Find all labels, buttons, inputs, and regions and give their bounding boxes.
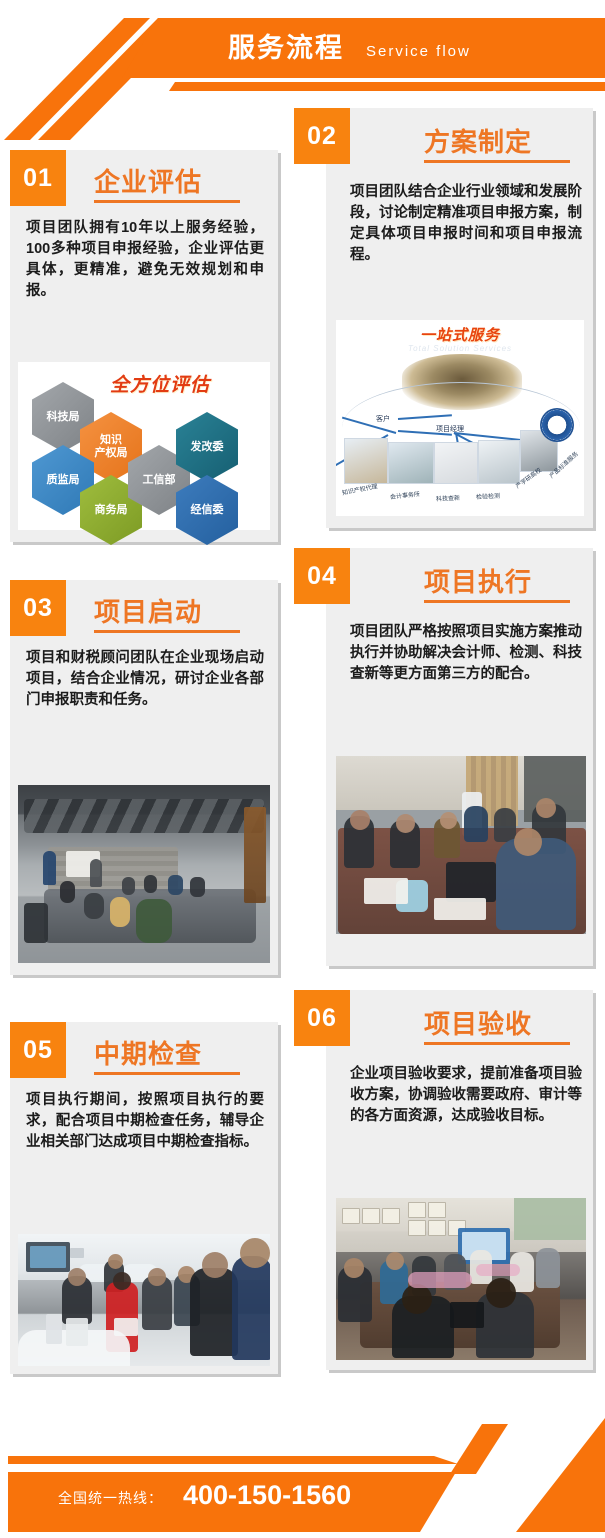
step-title-04: 项目执行 bbox=[424, 562, 532, 599]
page-title: 服务流程 bbox=[228, 28, 344, 68]
step-title-rule-04 bbox=[424, 600, 570, 603]
hotline-number[interactable]: 400-150-1560 bbox=[183, 1480, 351, 1511]
service-flow-infographic: 服务流程 Service flow 01 企业评估 项目团队拥有10年以上服务经… bbox=[0, 0, 605, 1538]
step-number-01: 01 bbox=[10, 150, 66, 206]
step-title-rule-06 bbox=[424, 1042, 570, 1045]
step-title-02: 方案制定 bbox=[424, 122, 532, 159]
page-footer: 全国统一热线： 400-150-1560 bbox=[0, 1418, 605, 1538]
step-number-05: 05 bbox=[10, 1022, 66, 1078]
step-title-01: 企业评估 bbox=[94, 162, 202, 199]
step-body-05: 项目执行期间，按照项目执行的要求，配合项目中期检查任务，辅导企业相关部门达成项目… bbox=[26, 1090, 264, 1153]
one-stop-service-thumb bbox=[434, 442, 478, 484]
one-stop-title: 一站式服务 bbox=[336, 324, 584, 345]
step-number-04: 04 bbox=[294, 548, 350, 604]
step-body-04: 项目团队严格按照项目实施方案推动执行并协助解决会计师、检测、科技查新等更方面第三… bbox=[350, 622, 582, 685]
step-title-rule-01 bbox=[94, 200, 240, 203]
hex-diagram-title: 全方位评估 bbox=[110, 370, 210, 397]
hex-node-label: 质监局 bbox=[47, 474, 80, 487]
one-stop-service-label: 检验检测 bbox=[476, 491, 500, 501]
step-title-rule-03 bbox=[94, 630, 240, 633]
photo-boardroom bbox=[336, 1198, 586, 1360]
step-body-01: 项目团队拥有10年以上服务经验，100多种项目申报经验，企业评估更具体，更精准，… bbox=[26, 218, 264, 302]
hex-node-label: 商务局 bbox=[95, 504, 128, 517]
one-stop-service-thumb bbox=[388, 442, 434, 484]
one-stop-service-label: 科技查新 bbox=[436, 493, 460, 503]
step-card-05: 05 中期检查 项目执行期间，按照项目执行的要求，配合项目中期检查任务，辅导企业… bbox=[10, 1022, 278, 1374]
hex-node-label: 知识 产权局 bbox=[95, 434, 128, 460]
hex-node-label: 工信部 bbox=[143, 474, 176, 487]
step-title-06: 项目验收 bbox=[424, 1004, 532, 1041]
step-card-06: 06 项目验收 企业项目验收要求，提前准备项目验收方案，协调验收需要政府、审计等… bbox=[326, 990, 593, 1370]
step-card-02: 02 方案制定 项目团队结合企业行业领域和发展阶段，讨论制定精准项目申报方案，制… bbox=[326, 108, 593, 528]
step-number-06: 06 bbox=[294, 990, 350, 1046]
footer-stripe bbox=[8, 1456, 605, 1464]
one-stop-service-diagram: 一站式服务 Total Solution Services 客户 项目经理 知识… bbox=[336, 320, 584, 516]
photo-office-meeting bbox=[336, 756, 586, 934]
page-subtitle: Service flow bbox=[366, 38, 471, 66]
step-body-03: 项目和财税顾问团队在企业现场启动项目，结合企业情况，研讨企业各部门申报职责和任务… bbox=[26, 648, 264, 711]
hotline-label: 全国统一热线： bbox=[58, 1488, 163, 1508]
step-title-03: 项目启动 bbox=[94, 592, 202, 629]
step-body-06: 企业项目验收要求，提前准备项目验收方案，协调验收需要政府、审计等的各方面资源，达… bbox=[350, 1064, 582, 1127]
step-title-05: 中期检查 bbox=[94, 1034, 202, 1071]
photo-content bbox=[18, 1234, 270, 1366]
hex-diagram: 全方位评估 科技局 知识 产权局 质监局 商务局 工信部 发改委 经信委 bbox=[18, 362, 270, 530]
photo-conference-room bbox=[18, 785, 270, 963]
one-stop-subtitle: Total Solution Services bbox=[336, 344, 584, 353]
step-title-rule-05 bbox=[94, 1072, 240, 1075]
one-stop-service-thumb bbox=[478, 440, 520, 484]
photo-content bbox=[336, 1198, 586, 1360]
step-number-03: 03 bbox=[10, 580, 66, 636]
step-card-04: 04 项目执行 项目团队严格按照项目实施方案推动执行并协助解决会计师、检测、科技… bbox=[326, 548, 593, 966]
hex-node-label: 发改委 bbox=[191, 441, 224, 454]
hex-node-label: 科技局 bbox=[47, 411, 80, 424]
one-stop-iso-seal bbox=[540, 408, 574, 442]
hex-node-label: 经信委 bbox=[191, 504, 224, 517]
photo-showroom-visit bbox=[18, 1234, 270, 1366]
photo-content bbox=[336, 756, 586, 934]
step-card-03: 03 项目启动 项目和财税顾问团队在企业现场启动项目，结合企业情况，研讨企业各部… bbox=[10, 580, 278, 975]
step-number-02: 02 bbox=[294, 108, 350, 164]
photo-content bbox=[18, 785, 270, 963]
one-stop-service-label: 会计事务所 bbox=[390, 489, 421, 501]
one-stop-client-label: 客户 bbox=[376, 414, 390, 424]
one-stop-service-thumb bbox=[344, 438, 388, 484]
step-card-01: 01 企业评估 项目团队拥有10年以上服务经验，100多种项目申报经验，企业评估… bbox=[10, 150, 278, 542]
step-body-02: 项目团队结合企业行业领域和发展阶段，讨论制定精准项目申报方案，制定具体项目申报时… bbox=[350, 182, 582, 266]
step-title-rule-02 bbox=[424, 160, 570, 163]
